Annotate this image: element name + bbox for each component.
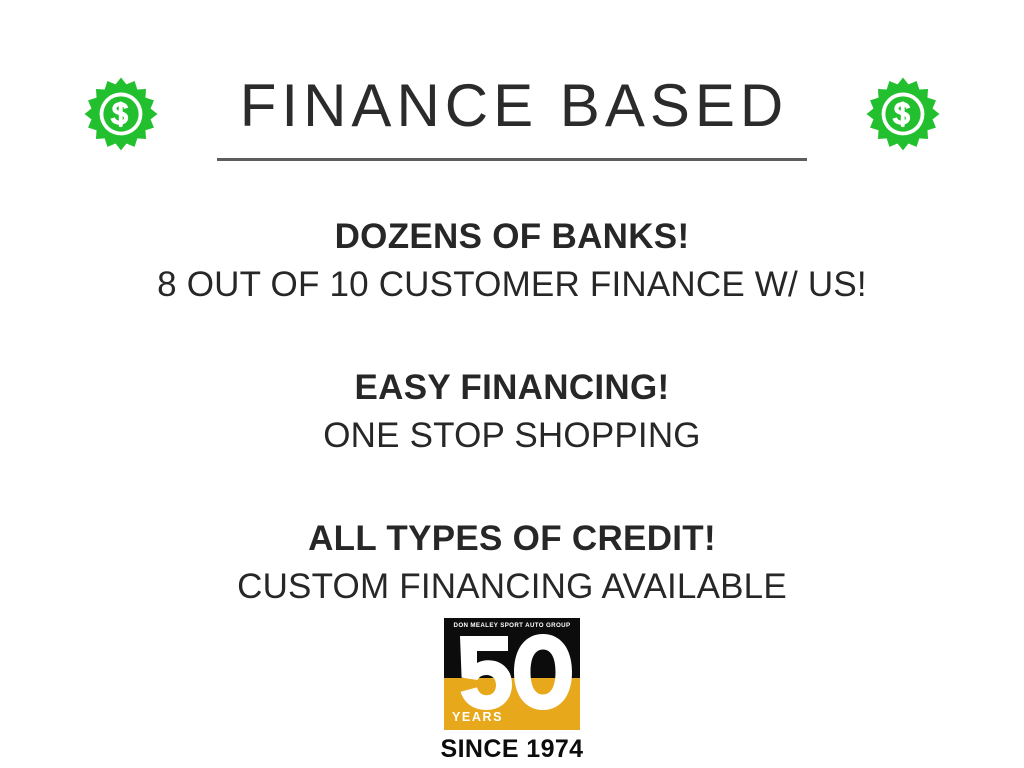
selling-point-headline: ALL TYPES OF CREDIT! — [0, 516, 1024, 562]
title-block: FINANCE BASED — [217, 74, 807, 161]
selling-point-headline: EASY FINANCING! — [0, 365, 1024, 411]
dealer-logo: DON MEALEY SPORT AUTO GROUP — [0, 618, 1024, 762]
money-gear-icon — [79, 75, 163, 159]
title-divider — [217, 158, 807, 161]
selling-point-subline: 8 OUT OF 10 CUSTOMER FINANCE W/ US! — [0, 262, 1024, 308]
badge-brand-line: DON MEALEY SPORT AUTO GROUP — [444, 623, 580, 629]
page-title: FINANCE BASED — [236, 74, 788, 138]
badge-years-label: YEARS — [452, 711, 503, 724]
selling-point-subline: ONE STOP SHOPPING — [0, 413, 1024, 459]
slide-header: FINANCE BASED — [0, 74, 1024, 161]
selling-point-block: EASY FINANCING! ONE STOP SHOPPING — [0, 365, 1024, 458]
money-gear-icon — [861, 75, 945, 159]
selling-point-subline: CUSTOM FINANCING AVAILABLE — [0, 564, 1024, 610]
promo-slide: FINANCE BASED DOZENS OF BANKS! 8 OUT OF … — [0, 0, 1024, 768]
selling-point-headline: DOZENS OF BANKS! — [0, 214, 1024, 260]
selling-points: DOZENS OF BANKS! 8 OUT OF 10 CUSTOMER FI… — [0, 214, 1024, 609]
fifty-numeral-icon — [444, 630, 580, 722]
anniversary-badge: DON MEALEY SPORT AUTO GROUP — [444, 618, 580, 730]
selling-point-block: ALL TYPES OF CREDIT! CUSTOM FINANCING AV… — [0, 516, 1024, 609]
badge-since-label: SINCE 1974 — [441, 737, 584, 762]
selling-point-block: DOZENS OF BANKS! 8 OUT OF 10 CUSTOMER FI… — [0, 214, 1024, 307]
